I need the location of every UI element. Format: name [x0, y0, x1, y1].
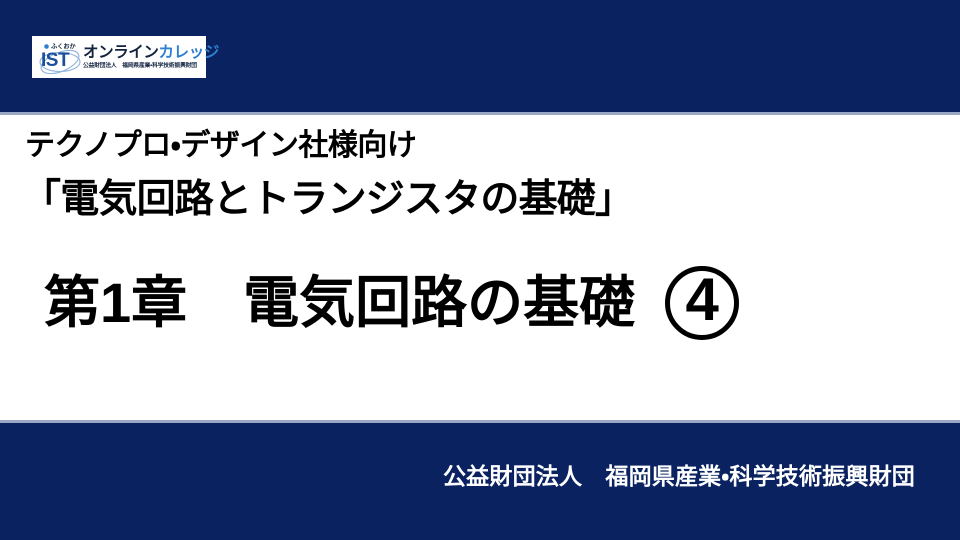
logo-wordmark: オンラインカレッジ 公益財団法人 福岡県産業・科学技術振興財団 — [83, 45, 219, 69]
presentation-slide: ふくおか IST オンラインカレッジ 公益財団法人 福岡県産業・科学技術振興財団… — [0, 0, 960, 540]
course-title: 「電気回路とトランジスタの基礎」 — [22, 180, 633, 219]
logo-org-line: 公益財団法人 福岡県産業・科学技術振興財団 — [83, 63, 222, 69]
ist-online-college-logo: ふくおか IST オンラインカレッジ 公益財団法人 福岡県産業・科学技術振興財団 — [32, 36, 206, 78]
svg-text:IST: IST — [41, 50, 70, 71]
logo-name-line: オンラインカレッジ — [83, 45, 219, 61]
chapter-number-badge: 4 — [665, 266, 739, 340]
ist-logo-icon: ふくおか IST — [39, 40, 81, 74]
logo-name-dark: オンライン — [83, 44, 159, 61]
chapter-heading: 第1章 電気回路の基礎 4 — [44, 266, 739, 340]
chapter-number-value: 4 — [685, 270, 718, 330]
audience-line: テクノプロ・デザイン社様向け — [25, 131, 416, 161]
logo-name-blue: カレッジ — [159, 44, 219, 61]
chapter-title-text: 第1章 電気回路の基礎 — [44, 269, 635, 336]
footer-organization: 公益財団法人 福岡県産業・科学技術振興財団 — [443, 465, 915, 488]
